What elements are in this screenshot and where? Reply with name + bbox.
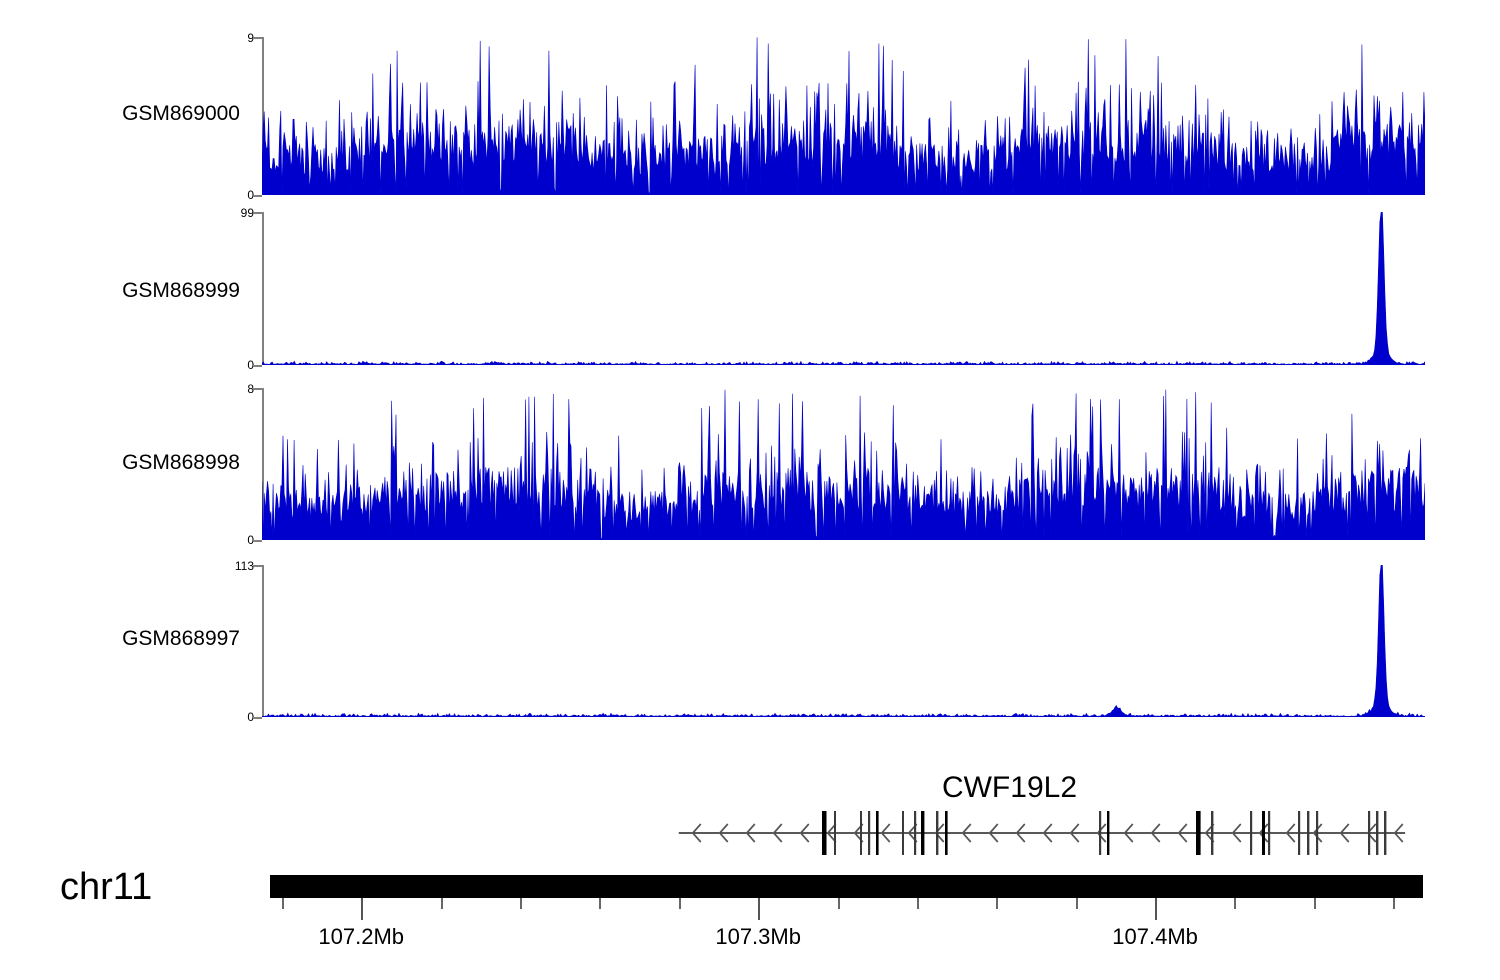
track-label-gsm868998: GSM868998 xyxy=(60,452,240,473)
ruler-tick-major xyxy=(1155,898,1157,920)
ruler-tick-minor xyxy=(1393,898,1395,909)
exon-bar xyxy=(1268,811,1270,855)
y-axis-max-label: 99 xyxy=(241,207,254,219)
exon-bar xyxy=(876,811,879,855)
exon-bar xyxy=(1316,811,1318,855)
exon-bar xyxy=(1298,811,1300,855)
track-label-gsm868997: GSM868997 xyxy=(60,628,240,649)
y-axis-top-tick xyxy=(253,388,262,390)
exon-bar xyxy=(1211,811,1213,855)
exon-bar xyxy=(1384,811,1386,855)
ruler-tick-label: 107.4Mb xyxy=(1112,926,1198,948)
gene-name-label: CWF19L2 xyxy=(942,773,1077,803)
ruler-tick-minor xyxy=(679,898,681,909)
chromosome-bar[interactable] xyxy=(270,875,1423,898)
ruler-tick-minor xyxy=(520,898,522,909)
ruler-tick-minor xyxy=(838,898,840,909)
y-axis-top-tick xyxy=(253,565,262,567)
ruler-tick-minor xyxy=(599,898,601,909)
exon-bar xyxy=(860,811,862,855)
ruler-tick-major xyxy=(361,898,363,920)
exon-bar xyxy=(921,811,924,855)
exon-bar xyxy=(945,811,948,855)
track-label-gsm869000: GSM869000 xyxy=(60,103,240,124)
exon-bar xyxy=(834,811,836,855)
coverage-plot-area[interactable] xyxy=(262,565,1425,717)
exon-bar xyxy=(1262,811,1265,855)
ruler-tick-minor xyxy=(282,898,284,909)
ruler-tick-minor xyxy=(996,898,998,909)
y-axis-max-label: 113 xyxy=(235,560,254,572)
ruler-tick-label: 107.2Mb xyxy=(318,926,404,948)
y-axis-bottom-tick xyxy=(253,365,262,367)
coverage-plot-area[interactable] xyxy=(262,37,1425,195)
exon-bar xyxy=(1099,811,1101,855)
y-axis-bottom-tick xyxy=(253,195,262,197)
ruler-tick-label: 107.3Mb xyxy=(715,926,801,948)
exon-bar xyxy=(1196,811,1201,855)
coverage-area xyxy=(262,37,1425,195)
coverage-plot-area[interactable] xyxy=(262,388,1425,540)
exon-bar xyxy=(914,811,916,855)
ruler-tick-minor xyxy=(1314,898,1316,909)
exon-bar xyxy=(1107,811,1109,855)
gene-model-svg[interactable] xyxy=(0,808,1500,858)
ruler-tick-minor xyxy=(1076,898,1078,909)
chromosome-label: chr11 xyxy=(60,868,210,906)
exon-bar xyxy=(868,811,870,855)
ruler-tick-major xyxy=(758,898,760,920)
coverage-area xyxy=(262,212,1425,365)
y-axis-bottom-tick xyxy=(253,540,262,542)
track-label-gsm868999: GSM868999 xyxy=(60,280,240,301)
exon-bar xyxy=(1368,811,1370,855)
ruler-tick-minor xyxy=(441,898,443,909)
exon-bar xyxy=(936,811,938,855)
exon-bar xyxy=(1250,811,1252,855)
coverage-plot-area[interactable] xyxy=(262,212,1425,365)
y-axis-bottom-tick xyxy=(253,717,262,719)
ruler-tick-minor xyxy=(1234,898,1236,909)
genome-browser[interactable]: GSM86900090GSM868999990GSM86899880GSM868… xyxy=(0,0,1500,980)
exon-bar xyxy=(822,811,827,855)
exon-bar xyxy=(1376,811,1378,855)
coverage-area xyxy=(262,565,1425,717)
y-axis-top-tick xyxy=(253,212,262,214)
exon-bar xyxy=(902,811,904,855)
exon-bar xyxy=(1307,811,1309,855)
coverage-area xyxy=(262,390,1425,540)
ruler-tick-minor xyxy=(917,898,919,909)
y-axis-top-tick xyxy=(253,37,262,39)
